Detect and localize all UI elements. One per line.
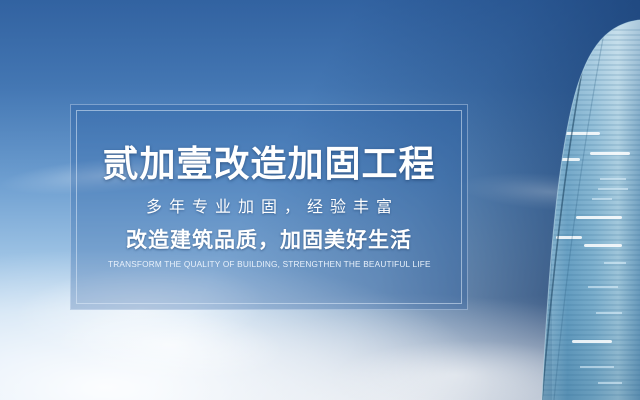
banner-slogan-english: TRANSFORM THE QUALITY OF BUILDING, STREN… <box>108 260 431 269</box>
banner-tagline: 多年专业加固，经验丰富 <box>139 200 399 216</box>
banner-slogan: 改造建筑品质，加固美好生活 <box>126 230 412 251</box>
hero-banner: 贰加壹改造加固工程 多年专业加固，经验丰富 改造建筑品质，加固美好生活 TRAN… <box>0 0 640 400</box>
banner-title: 贰加壹改造加固工程 <box>102 146 435 182</box>
skyscraper-image <box>480 0 640 400</box>
banner-panel: 贰加壹改造加固工程 多年专业加固，经验丰富 改造建筑品质，加固美好生活 TRAN… <box>70 104 468 310</box>
panel-content: 贰加壹改造加固工程 多年专业加固，经验丰富 改造建筑品质，加固美好生活 TRAN… <box>70 104 468 310</box>
